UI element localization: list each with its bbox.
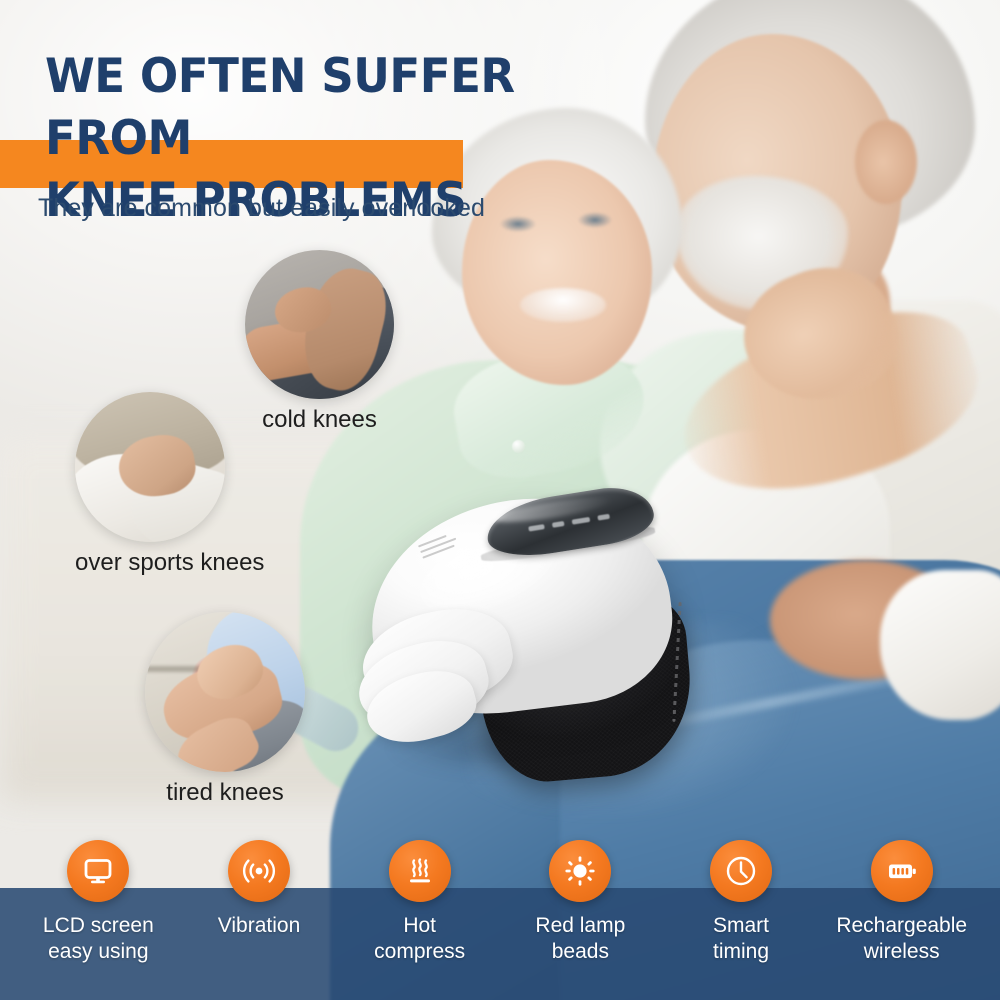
- callout-over-sports-knees: over sports knees: [75, 392, 264, 577]
- heat-waves-icon: [389, 840, 451, 902]
- feature-label: Red lamp beads: [535, 913, 625, 965]
- callout-caption: tired knees: [145, 779, 305, 807]
- shirt-button: [512, 440, 525, 453]
- feature-hot-compress: Hot compress: [339, 840, 500, 965]
- feature-label: Hot compress: [374, 913, 465, 965]
- callout-caption: cold knees: [245, 406, 394, 434]
- feature-rechargeable-wireless: Rechargeable wireless: [821, 840, 982, 965]
- feature-red-lamp-beads: Red lamp beads: [500, 840, 661, 965]
- feature-label: LCD screen easy using: [43, 913, 154, 965]
- callout-caption: over sports knees: [75, 549, 264, 577]
- knee-massager-device: [360, 492, 690, 782]
- panel-marking: [552, 521, 565, 528]
- man-ear: [855, 120, 917, 204]
- subtitle: They are common but easily overlooked: [38, 194, 485, 223]
- feature-list: LCD screen easy using Vibration: [0, 840, 1000, 1000]
- vibration-icon: [228, 840, 290, 902]
- feature-lcd-screen: LCD screen easy using: [18, 840, 179, 965]
- monitor-icon: [67, 840, 129, 902]
- callout-image-tired-knees: [145, 612, 305, 772]
- callout-image-cold-knees: [245, 250, 394, 399]
- feature-label: Smart timing: [713, 913, 769, 965]
- callout-tired-knees: tired knees: [145, 612, 305, 807]
- feature-label: Vibration: [218, 913, 301, 939]
- panel-marking: [597, 514, 610, 521]
- clock-icon: [710, 840, 772, 902]
- feature-smart-timing: Smart timing: [661, 840, 822, 965]
- sun-icon: [549, 840, 611, 902]
- panel-gloss: [491, 492, 612, 527]
- callout-image-over-sports-knees: [75, 392, 225, 542]
- panel-marking: [572, 517, 591, 525]
- callout-cold-knees: cold knees: [245, 250, 394, 434]
- panel-marking: [528, 524, 545, 531]
- product-banner: WE OFTEN SUFFER FROM KNEE PROBLEMS They …: [0, 0, 1000, 1000]
- feature-label: Rechargeable wireless: [836, 913, 967, 965]
- feature-vibration: Vibration: [179, 840, 340, 939]
- woman-smile: [520, 288, 606, 322]
- battery-icon: [871, 840, 933, 902]
